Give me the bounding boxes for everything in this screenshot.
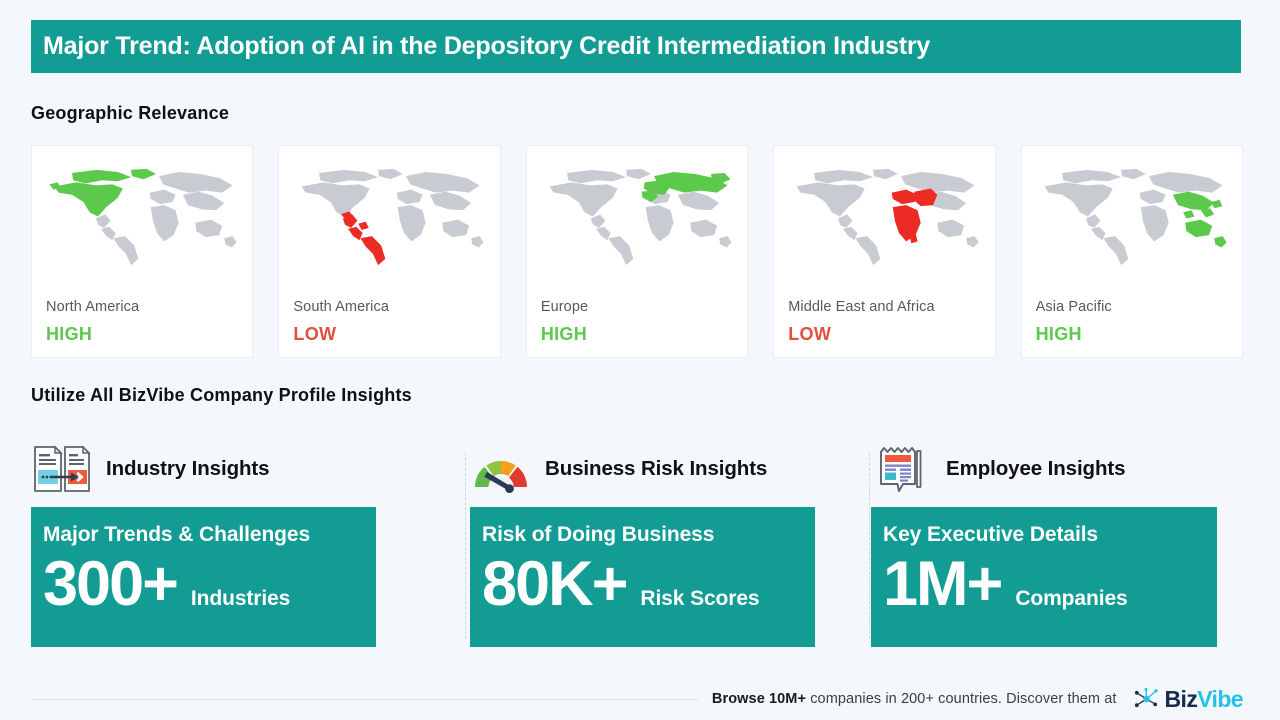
stat-number: 80K+ xyxy=(482,553,626,616)
geo-card-level-badge: LOW xyxy=(293,324,336,345)
geo-card-level-badge: LOW xyxy=(788,324,831,345)
insight-column-business-risk: Business Risk Insights Risk of Doing Bus… xyxy=(435,440,839,655)
world-map-north-america-highlighted-icon xyxy=(40,158,247,276)
bizvibe-logo-text: BizVibe xyxy=(1165,686,1243,713)
stat-number: 1M+ xyxy=(883,553,1001,616)
geo-card-region-label: South America xyxy=(293,299,389,315)
stat-number: 300+ xyxy=(43,553,177,616)
world-map-south-america-highlighted-icon xyxy=(287,158,494,276)
stat-label: Risk of Doing Business xyxy=(482,523,815,547)
geo-card-level-badge: HIGH xyxy=(1036,324,1082,345)
footer-divider xyxy=(31,699,698,700)
insights-row: Industry Insights Major Trends & Challen… xyxy=(31,440,1243,655)
stat-unit: Industries xyxy=(191,587,290,611)
geo-card-middle-east-and-africa[interactable]: Middle East and Africa LOW xyxy=(773,145,995,358)
geo-card-level-badge: HIGH xyxy=(46,324,92,345)
geographic-relevance-card-row: North America HIGH xyxy=(31,145,1243,358)
geo-card-level-badge: HIGH xyxy=(541,324,587,345)
world-map-asia-pacific-highlighted-icon xyxy=(1030,158,1237,276)
geo-card-europe[interactable]: Europe HIGH xyxy=(526,145,748,358)
geo-card-region-label: North America xyxy=(46,299,139,315)
stat-box-employee: Key Executive Details 1M+ Companies xyxy=(871,507,1217,647)
insight-column-industry: Industry Insights Major Trends & Challen… xyxy=(31,440,435,655)
bizvibe-logo-text-biz: Biz xyxy=(1165,686,1198,712)
insight-title: Industry Insights xyxy=(106,457,269,481)
insight-header-industry: Industry Insights xyxy=(31,440,269,498)
page-title: Major Trend: Adoption of AI in the Depos… xyxy=(43,32,930,61)
stat-label: Key Executive Details xyxy=(883,523,1217,547)
stat-unit: Risk Scores xyxy=(640,587,759,611)
geographic-relevance-heading: Geographic Relevance xyxy=(31,103,229,124)
insight-column-employee: Employee Insights Key Executive Details … xyxy=(839,440,1243,655)
geo-card-north-america[interactable]: North America HIGH xyxy=(31,145,253,358)
world-map-middle-east-africa-highlighted-icon xyxy=(782,158,989,276)
bizvibe-logo[interactable]: BizVibe xyxy=(1133,686,1243,713)
geo-card-region-label: Asia Pacific xyxy=(1036,299,1112,315)
footer-browse-bold: Browse 10M+ xyxy=(712,691,806,707)
footer-browse-rest: companies in 200+ countries. Discover th… xyxy=(806,691,1116,707)
insight-header-business-risk: Business Risk Insights xyxy=(470,440,767,498)
stat-label: Major Trends & Challenges xyxy=(43,523,376,547)
documents-transfer-icon xyxy=(31,443,93,495)
newspaper-speech-icon xyxy=(871,443,933,495)
insight-title: Employee Insights xyxy=(946,457,1125,481)
footer-browse-text: Browse 10M+ companies in 200+ countries.… xyxy=(712,691,1117,707)
stat-box-business-risk: Risk of Doing Business 80K+ Risk Scores xyxy=(470,507,815,647)
stat-box-industry: Major Trends & Challenges 300+ Industrie… xyxy=(31,507,376,647)
stat-figure-row: 80K+ Risk Scores xyxy=(482,553,815,616)
world-map-europe-highlighted-icon xyxy=(535,158,742,276)
bizvibe-network-logo-icon xyxy=(1133,687,1160,711)
stat-figure-row: 300+ Industries xyxy=(43,553,376,616)
geo-card-south-america[interactable]: South America LOW xyxy=(278,145,500,358)
bizvibe-logo-text-vibe: Vibe xyxy=(1197,686,1243,712)
geo-card-region-label: Europe xyxy=(541,299,588,315)
header-banner: Major Trend: Adoption of AI in the Depos… xyxy=(31,20,1241,73)
footer: Browse 10M+ companies in 200+ countries.… xyxy=(31,686,1243,712)
risk-gauge-icon xyxy=(470,443,532,495)
stat-figure-row: 1M+ Companies xyxy=(883,553,1217,616)
geo-card-region-label: Middle East and Africa xyxy=(788,299,934,315)
insights-heading: Utilize All BizVibe Company Profile Insi… xyxy=(31,385,412,406)
insight-title: Business Risk Insights xyxy=(545,457,767,481)
stat-unit: Companies xyxy=(1015,587,1127,611)
insight-header-employee: Employee Insights xyxy=(871,440,1125,498)
geo-card-asia-pacific[interactable]: Asia Pacific HIGH xyxy=(1021,145,1243,358)
